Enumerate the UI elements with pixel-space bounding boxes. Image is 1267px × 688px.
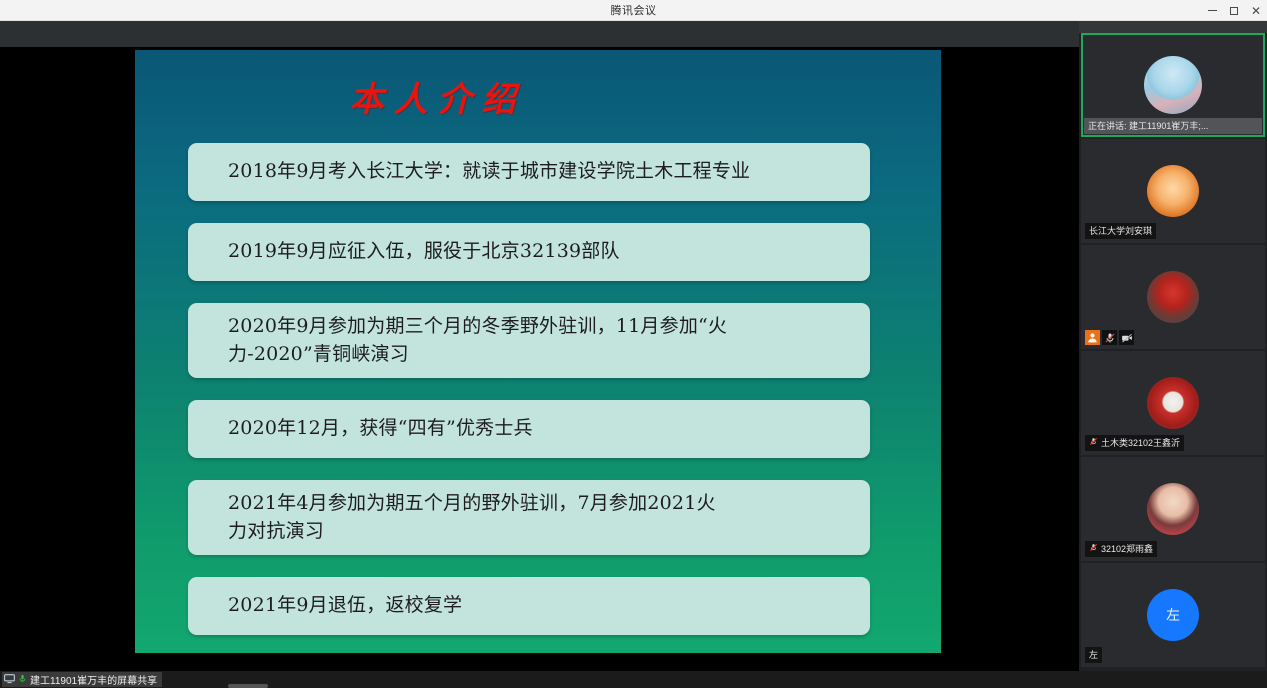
avatar [1147, 483, 1199, 535]
app-root: 腾讯会议 ✕ 本人介绍 2018年9月考入长江大学：就读于城市建设学院土木工程专… [0, 0, 1267, 688]
avatar [1144, 56, 1202, 114]
participant-name-label: 正在讲话: 建工11901崔万丰;... [1084, 118, 1262, 134]
camera-off-icon [1119, 330, 1134, 345]
participant-tile[interactable]: 土木类32102王鑫沂 [1081, 351, 1265, 455]
taskbar-thumbnail-placeholder [228, 684, 268, 688]
slide-title: 本人介绍 [135, 72, 740, 121]
participant-name-text: 32102郑雨鑫 [1101, 543, 1153, 555]
avatar [1147, 165, 1199, 217]
slide-bullet-item: 2020年9月参加为期三个月的冬季野外驻训，11月参加“火 力-2020”青铜峡… [188, 303, 870, 378]
participant-status-badges [1085, 330, 1134, 345]
participant-panel: 正在讲话: 建工11901崔万丰;... 长江大学刘安琪 [1079, 33, 1267, 674]
minimize-button[interactable] [1201, 0, 1223, 21]
participant-name-label: 32102郑雨鑫 [1085, 541, 1157, 557]
slide-bullet-item: 2018年9月考入长江大学：就读于城市建设学院土木工程专业 [188, 143, 870, 201]
restore-button[interactable] [1223, 0, 1245, 21]
close-button[interactable]: ✕ [1245, 0, 1267, 21]
avatar: 左 [1147, 589, 1199, 641]
avatar [1147, 377, 1199, 429]
monitor-icon [4, 673, 15, 687]
participant-name-label: 左 [1085, 647, 1102, 663]
slide-bullet-text: 2020年12月，获得“四有”优秀士兵 [228, 415, 533, 443]
participant-tile[interactable] [1081, 245, 1265, 349]
avatar [1147, 271, 1199, 323]
mic-off-icon [1089, 437, 1098, 449]
slide-bullet-list: 2018年9月考入长江大学：就读于城市建设学院土木工程专业 2019年9月应征入… [188, 143, 870, 653]
taskbar: 建工11901崔万丰的屏幕共享 [0, 671, 1267, 688]
restore-icon [1230, 7, 1238, 15]
slide-bullet-item: 2019年9月应征入伍，服役于北京32139部队 [188, 223, 870, 281]
window-title: 腾讯会议 [611, 2, 657, 18]
participant-tile[interactable]: 长江大学刘安琪 [1081, 139, 1265, 243]
participant-name-text: 土木类32102王鑫沂 [1101, 437, 1180, 449]
participant-tile[interactable]: 正在讲话: 建工11901崔万丰;... [1081, 33, 1265, 137]
participant-name-label: 土木类32102王鑫沂 [1085, 435, 1184, 451]
participant-tile[interactable]: 32102郑雨鑫 [1081, 457, 1265, 561]
slide-bullet-item: 2021年9月退伍，返校复学 [188, 577, 870, 635]
taskbar-share-label: 建工11901崔万丰的屏幕共享 [30, 672, 157, 687]
minimize-icon [1208, 10, 1217, 11]
host-icon [1085, 330, 1100, 345]
slide-bullet-text: 2020年9月参加为期三个月的冬季野外驻训，11月参加“火 力-2020”青铜峡… [228, 313, 727, 368]
window-titlebar: 腾讯会议 ✕ [0, 0, 1267, 21]
shared-screen-stage: 本人介绍 2018年9月考入长江大学：就读于城市建设学院土木工程专业 2019年… [0, 47, 1079, 671]
meeting-toolbar [0, 21, 1079, 47]
participant-tile[interactable]: 左 左 [1081, 563, 1265, 667]
participant-name-label: 长江大学刘安琪 [1085, 223, 1156, 239]
slide-bullet-text: 2018年9月考入长江大学：就读于城市建设学院土木工程专业 [228, 158, 750, 186]
window-controls: ✕ [1201, 0, 1267, 21]
slide-bullet-text: 2021年9月退伍，返校复学 [228, 592, 462, 620]
slide-bullet-text: 2019年9月应征入伍，服役于北京32139部队 [228, 238, 620, 266]
taskbar-share-item[interactable]: 建工11901崔万丰的屏幕共享 [2, 672, 162, 687]
slide-bullet-text: 2021年4月参加为期五个月的野外驻训，7月参加2021火 力对抗演习 [228, 490, 716, 545]
mic-off-icon [1102, 330, 1117, 345]
presentation-slide: 本人介绍 2018年9月考入长江大学：就读于城市建设学院土木工程专业 2019年… [135, 50, 941, 653]
slide-bullet-item: 2021年4月参加为期五个月的野外驻训，7月参加2021火 力对抗演习 [188, 480, 870, 555]
mic-on-icon [18, 673, 27, 687]
close-icon: ✕ [1251, 5, 1261, 17]
mic-off-icon [1089, 543, 1098, 555]
slide-bullet-item: 2020年12月，获得“四有”优秀士兵 [188, 400, 870, 458]
